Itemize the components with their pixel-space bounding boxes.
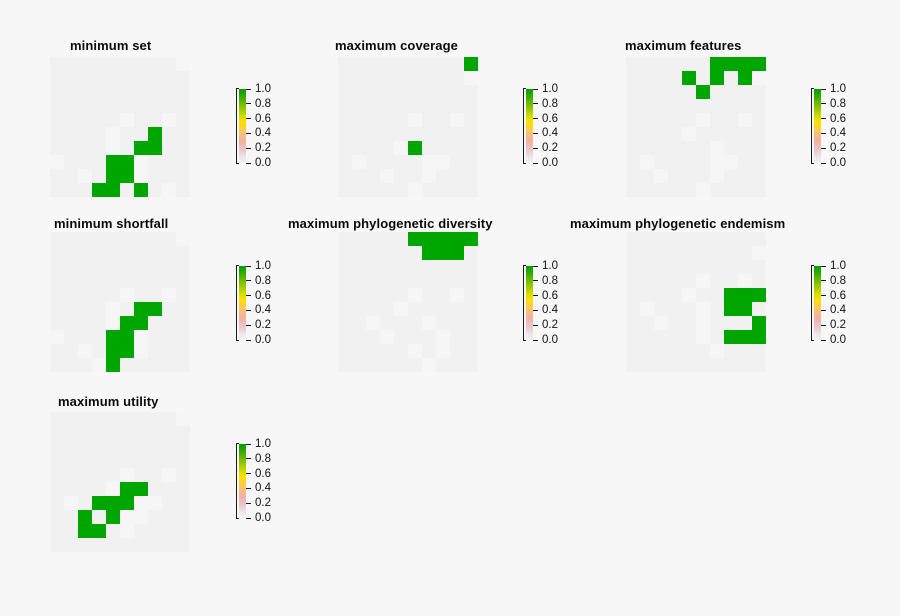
legend-tick: 1.0: [246, 438, 271, 450]
legend-tick-mark: [246, 444, 251, 445]
raster-cell: [78, 426, 92, 440]
raster-cell: [106, 426, 120, 440]
raster-cell-selected: [78, 510, 92, 524]
raster-cell-selected: [78, 524, 92, 538]
raster-cell: [92, 454, 106, 468]
raster-cell: [106, 524, 120, 538]
raster-cell-low: [120, 524, 134, 538]
raster-cell: [148, 468, 162, 482]
raster-cell: [64, 510, 78, 524]
raster-cell: [64, 482, 78, 496]
raster-cell: [92, 468, 106, 482]
legend-maximum-utility: 1.00.80.60.40.20.0: [233, 440, 293, 526]
raster-cell: [78, 412, 92, 426]
raster-cell-low: [162, 468, 176, 482]
legend-tick-label: 0.4: [255, 482, 271, 494]
raster-cell-low: [120, 468, 134, 482]
raster-cell: [134, 440, 148, 454]
raster-cell: [176, 468, 190, 482]
raster-cell: [148, 510, 162, 524]
legend-color-bar: [239, 444, 246, 518]
raster-cell-low: [176, 412, 190, 426]
legend-tick-mark: [246, 518, 251, 519]
raster-cell: [78, 454, 92, 468]
raster-cell: [50, 496, 64, 510]
raster-cell: [64, 440, 78, 454]
legend-tick: 0.4: [246, 482, 271, 494]
raster-cell: [134, 412, 148, 426]
legend-tick-label: 0.8: [255, 453, 271, 465]
raster-cell: [106, 412, 120, 426]
raster-cell-low: [106, 482, 120, 496]
raster-cell: [50, 454, 64, 468]
raster-cell: [176, 482, 190, 496]
raster-cell: [176, 426, 190, 440]
raster-cell: [50, 538, 64, 552]
raster-cell-low: [134, 510, 148, 524]
legend-tick-label: 1.0: [255, 438, 271, 450]
raster-cell: [162, 510, 176, 524]
raster-cell: [50, 524, 64, 538]
raster-cell-selected: [120, 482, 134, 496]
legend-tick: 0.8: [246, 453, 271, 465]
raster-cell: [92, 510, 106, 524]
raster-cell: [176, 524, 190, 538]
raster-cell: [64, 412, 78, 426]
raster-cell-selected: [106, 496, 120, 510]
raster-cell: [92, 426, 106, 440]
raster-grid-maximum-utility: [50, 412, 190, 552]
legend-tick-mark: [246, 473, 251, 474]
legend-tick-label: 0.2: [255, 497, 271, 509]
legend-tick-mark: [246, 458, 251, 459]
legend-tick-mark: [246, 503, 251, 504]
raster-cell-low: [148, 496, 162, 510]
raster-cell: [148, 482, 162, 496]
raster-cell: [134, 468, 148, 482]
raster-cell: [64, 426, 78, 440]
raster-cell: [106, 468, 120, 482]
raster-cell: [148, 412, 162, 426]
raster-cell: [64, 468, 78, 482]
raster-cell: [50, 510, 64, 524]
raster-cell: [106, 538, 120, 552]
raster-cell: [78, 482, 92, 496]
raster-cell: [162, 496, 176, 510]
legend-tick: 0.6: [246, 468, 271, 480]
raster-cell: [78, 496, 92, 510]
raster-cell: [120, 426, 134, 440]
raster-cell: [134, 454, 148, 468]
raster-cell: [148, 440, 162, 454]
raster-cell: [64, 524, 78, 538]
raster-cell: [50, 440, 64, 454]
legend-tick: 0.0: [246, 512, 271, 524]
raster-cell: [176, 440, 190, 454]
raster-cell: [64, 454, 78, 468]
raster-cell: [78, 468, 92, 482]
raster-cell-low: [134, 496, 148, 510]
legend-tick-mark: [246, 488, 251, 489]
raster-cell: [92, 482, 106, 496]
raster-cell-selected: [92, 524, 106, 538]
raster-cell: [176, 496, 190, 510]
raster-cell: [50, 426, 64, 440]
raster-cell: [106, 454, 120, 468]
raster-cell-selected: [134, 482, 148, 496]
raster-cell: [134, 426, 148, 440]
raster-cell: [176, 454, 190, 468]
raster-cell: [120, 538, 134, 552]
raster-cell: [50, 482, 64, 496]
raster-cell-low: [120, 510, 134, 524]
raster-cell-selected: [106, 510, 120, 524]
legend-tick: 0.2: [246, 497, 271, 509]
raster-cell: [148, 538, 162, 552]
legend-tick-group: 1.00.80.60.40.20.0: [246, 440, 292, 526]
raster-cell: [148, 454, 162, 468]
panel-title-maximum-utility: maximum utility: [58, 394, 158, 409]
raster-cell: [92, 412, 106, 426]
raster-cell: [134, 524, 148, 538]
raster-cell: [78, 440, 92, 454]
raster-cell: [162, 524, 176, 538]
raster-cell-low: [64, 496, 78, 510]
raster-cell: [148, 426, 162, 440]
raster-cell: [162, 412, 176, 426]
multi-panel-raster-figure: minimum set1.00.80.60.40.20.0maximum cov…: [0, 0, 900, 616]
legend-tick-label: 0.0: [255, 512, 271, 524]
raster-cell: [176, 510, 190, 524]
raster-cell: [78, 538, 92, 552]
raster-cell: [120, 454, 134, 468]
raster-cell: [106, 440, 120, 454]
panel-maximum-utility: maximum utility1.00.80.60.40.20.0: [0, 0, 900, 616]
legend-tick-label: 0.6: [255, 468, 271, 480]
raster-cell: [92, 538, 106, 552]
raster-cell: [120, 412, 134, 426]
raster-cell: [50, 468, 64, 482]
raster-cell: [120, 440, 134, 454]
raster-cell: [162, 440, 176, 454]
raster-cell: [162, 426, 176, 440]
raster-cell: [148, 524, 162, 538]
raster-cell: [162, 482, 176, 496]
raster-cell: [162, 454, 176, 468]
raster-cell: [64, 538, 78, 552]
raster-cell: [134, 538, 148, 552]
raster-cell: [50, 412, 64, 426]
raster-cell: [176, 538, 190, 552]
raster-cell: [92, 440, 106, 454]
raster-cell-selected: [92, 496, 106, 510]
raster-cell-selected: [120, 496, 134, 510]
raster-cell: [162, 538, 176, 552]
